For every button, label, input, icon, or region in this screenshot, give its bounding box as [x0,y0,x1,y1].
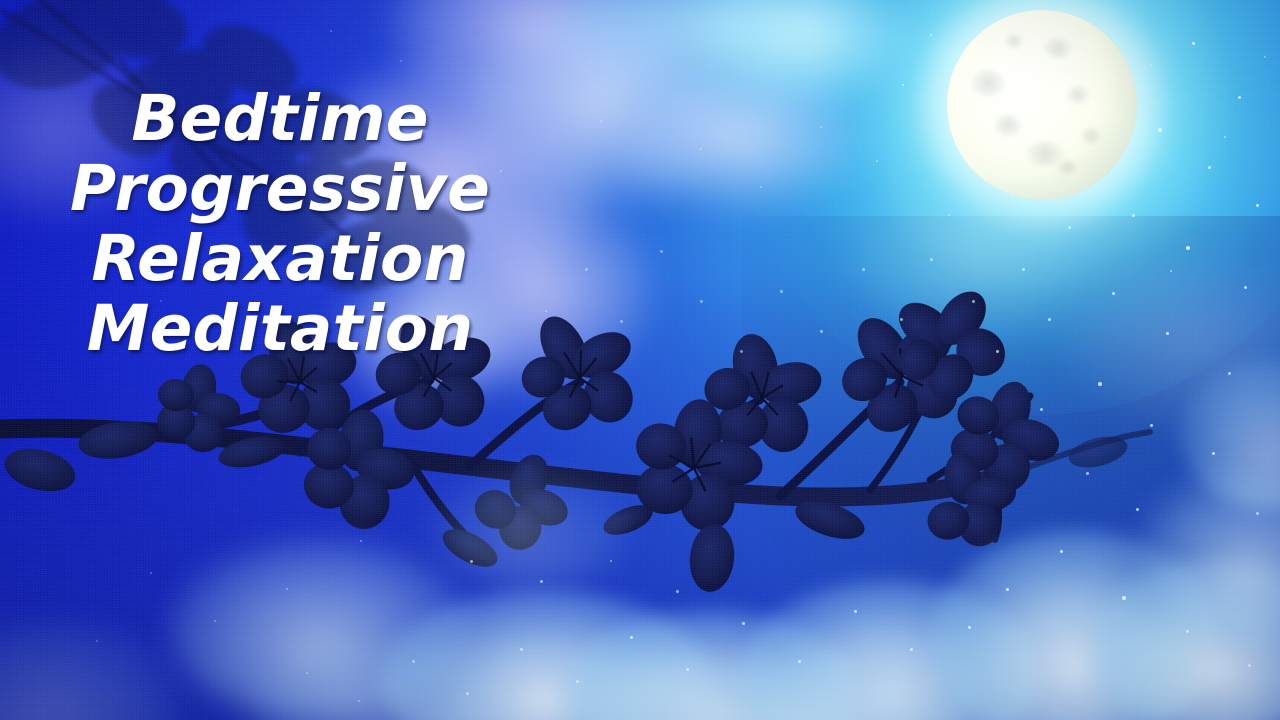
title-block: Bedtime Progressive Relaxation Meditatio… [0,84,560,364]
title-line-2: Progressive [0,154,560,224]
title-line-3: Relaxation [0,224,560,294]
title-line-4: Meditation [0,294,560,364]
thumbnail-canvas: Bedtime Progressive Relaxation Meditatio… [0,0,1280,720]
title-line-1: Bedtime [0,84,560,154]
